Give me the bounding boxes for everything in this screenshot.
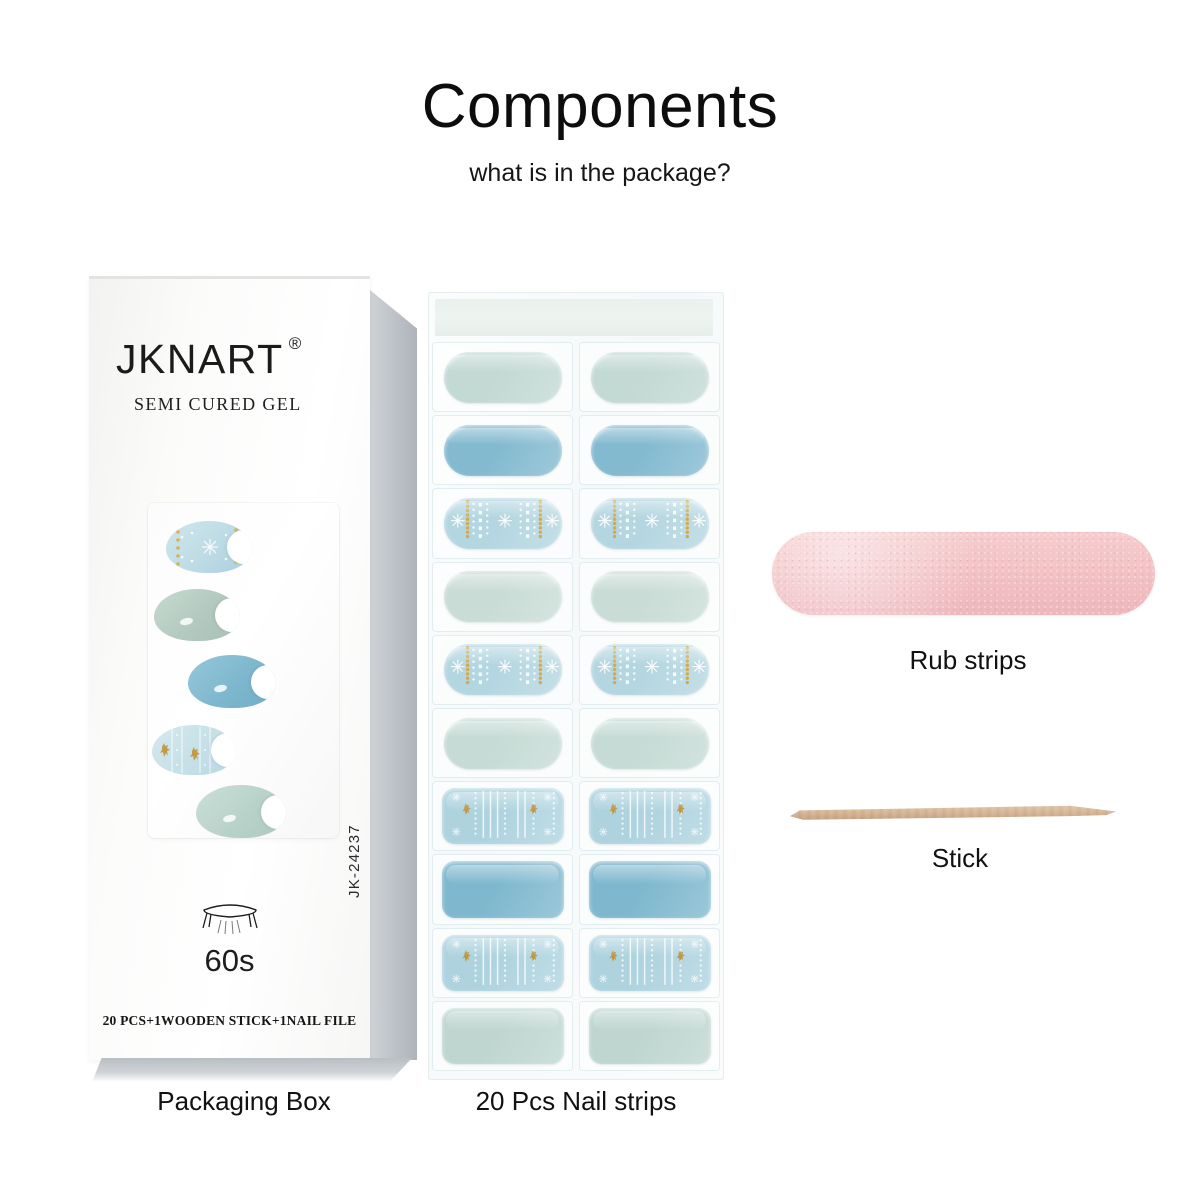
nail-strip-solid[interactable]	[444, 425, 562, 476]
sheet-row	[432, 928, 720, 998]
nail-strip-cell[interactable]	[579, 562, 720, 632]
sheet-row	[432, 562, 720, 632]
nail-strip-solid[interactable]	[442, 861, 564, 917]
snowflake-pattern-icon	[444, 644, 562, 689]
strip-gloss	[448, 721, 557, 738]
nordic-reindeer-pattern-icon	[442, 935, 564, 988]
sheet-row	[432, 708, 720, 778]
nail-strip-cell[interactable]	[432, 415, 573, 485]
registered-trademark-icon: ®	[289, 334, 303, 354]
nail-strip-reindeer[interactable]	[589, 935, 711, 991]
nail-strip-solid[interactable]	[442, 1008, 564, 1064]
nail-strip-cell[interactable]	[579, 415, 720, 485]
sheet-row	[432, 415, 720, 485]
nail-strip-solid[interactable]	[591, 352, 709, 403]
strip-gloss	[448, 428, 557, 445]
nail-strip-cell[interactable]	[432, 708, 573, 778]
nail-strip-snowflake-beads[interactable]	[591, 644, 709, 695]
nail-strip-cell[interactable]	[579, 488, 720, 558]
strip-gloss	[595, 428, 704, 445]
strip-gloss	[448, 501, 557, 518]
strip-gloss	[595, 647, 704, 664]
brand-tagline: SEMI CURED GEL	[134, 394, 370, 415]
nail-strip-cell[interactable]	[432, 635, 573, 705]
strip-gloss	[595, 501, 704, 518]
nail-strip-cell[interactable]	[432, 488, 573, 558]
cure-time-block: 60s	[89, 898, 370, 979]
nail-strip-cell[interactable]	[432, 342, 573, 412]
nail-strip-cell[interactable]	[579, 928, 720, 998]
packaging-box-figure: JKNART ® SEMI CURED GEL	[64, 258, 424, 1138]
box-top-edge	[89, 276, 370, 279]
snowflake-pattern-icon	[591, 498, 709, 543]
nail-strip-cell[interactable]	[579, 635, 720, 705]
box-side-face	[370, 290, 417, 1060]
swatch-blue-nail	[188, 655, 276, 708]
nail-strip-solid[interactable]	[591, 571, 709, 622]
nail-strip-snowflake-beads[interactable]	[444, 644, 562, 695]
nail-swatch-card	[148, 503, 339, 838]
snowflake-pattern-icon	[444, 498, 562, 543]
nail-strip-cell[interactable]	[579, 1001, 720, 1071]
gold-bead-pattern-icon	[444, 498, 562, 543]
sheet-header-bar	[435, 299, 713, 336]
gold-bead-pattern-icon	[591, 498, 709, 543]
sheet-row	[432, 488, 720, 558]
swatch-reindeer-nail	[152, 725, 236, 775]
wooden-stick	[790, 800, 1116, 826]
nail-file	[772, 532, 1155, 615]
snowflake-pattern-icon	[591, 644, 709, 689]
nail-strip-snowflake-beads[interactable]	[591, 498, 709, 549]
page-subtitle: what is in the package?	[0, 159, 1200, 188]
nail-strip-snowflake-beads[interactable]	[444, 498, 562, 549]
nail-tip	[251, 665, 276, 699]
box-sku-code: JK-24237	[346, 824, 363, 898]
sheet-row	[432, 342, 720, 412]
nail-strip-cell[interactable]	[579, 342, 720, 412]
nail-strip-cell[interactable]	[579, 781, 720, 851]
box-base-shadow	[92, 1058, 412, 1082]
strip-gloss	[448, 355, 557, 372]
strip-gloss	[448, 647, 557, 664]
nail-strip-cell[interactable]	[432, 1001, 573, 1071]
strip-gloss	[593, 938, 705, 957]
sheet-row	[432, 635, 720, 705]
strip-gloss	[593, 865, 705, 884]
stick-grain-texture	[790, 800, 1116, 826]
rub-strip-figure	[772, 532, 1164, 615]
strip-gloss	[595, 355, 704, 372]
nail-strip-sheet-figure	[428, 292, 724, 1082]
strip-gloss	[593, 792, 705, 811]
swatch-snowflake-gold-bead-nail	[166, 521, 252, 573]
nail-strip-cell[interactable]	[432, 562, 573, 632]
strip-gloss	[446, 865, 558, 884]
caption-rub-strips: Rub strips	[772, 645, 1164, 676]
nail-strip-reindeer[interactable]	[442, 935, 564, 991]
gold-bead-pattern-icon	[591, 644, 709, 689]
nail-strip-reindeer[interactable]	[442, 788, 564, 844]
nail-strip-solid[interactable]	[591, 718, 709, 769]
sheet-row	[432, 854, 720, 924]
box-contents-line: 20 PCS+1WOODEN STICK+1NAIL FILE	[89, 1013, 370, 1029]
caption-nail-strips: 20 Pcs Nail strips	[418, 1086, 734, 1117]
nail-strip-reindeer[interactable]	[589, 788, 711, 844]
nail-strip-cell[interactable]	[579, 854, 720, 924]
wooden-stick-figure	[790, 800, 1130, 826]
page-header: Components what is in the package?	[0, 74, 1200, 188]
strip-gloss	[446, 938, 558, 957]
strip-gloss	[593, 1011, 705, 1030]
nail-strip-solid[interactable]	[591, 425, 709, 476]
caption-packaging-box: Packaging Box	[64, 1086, 424, 1117]
nordic-reindeer-pattern-icon	[589, 788, 711, 841]
nail-strip-cell[interactable]	[432, 928, 573, 998]
nail-strip-cell[interactable]	[579, 708, 720, 778]
sheet-row	[432, 781, 720, 851]
brand-name: JKNART ®	[116, 336, 284, 383]
swatch-pale-green-nail	[196, 785, 286, 838]
nail-strip-solid[interactable]	[589, 861, 711, 917]
strip-gloss	[446, 792, 558, 811]
strip-gloss	[446, 1011, 558, 1030]
nail-tip	[261, 795, 286, 829]
nail-strip-solid[interactable]	[589, 1008, 711, 1064]
nail-strip-solid[interactable]	[444, 352, 562, 403]
nail-strip-cell[interactable]	[432, 854, 573, 924]
nail-strip-solid[interactable]	[444, 718, 562, 769]
sheet-row	[432, 1001, 720, 1071]
swatch-sage-green-nail	[154, 589, 240, 641]
nail-strip-cell[interactable]	[432, 781, 573, 851]
strip-gloss	[448, 574, 557, 591]
nordic-reindeer-pattern-icon	[589, 935, 711, 988]
box-branding: JKNART ® SEMI CURED GEL	[89, 336, 370, 415]
strip-gloss	[595, 721, 704, 738]
caption-stick: Stick	[790, 843, 1130, 874]
nordic-reindeer-pattern-icon	[442, 788, 564, 841]
strip-gloss	[595, 574, 704, 591]
gold-bead-pattern-icon	[444, 644, 562, 689]
uv-lamp-icon	[194, 898, 266, 936]
cure-time-text: 60s	[89, 943, 370, 979]
page-title: Components	[0, 74, 1200, 139]
nail-strip-solid[interactable]	[444, 571, 562, 622]
file-grit-texture	[772, 532, 1155, 615]
brand-name-text: JKNART	[116, 336, 284, 382]
